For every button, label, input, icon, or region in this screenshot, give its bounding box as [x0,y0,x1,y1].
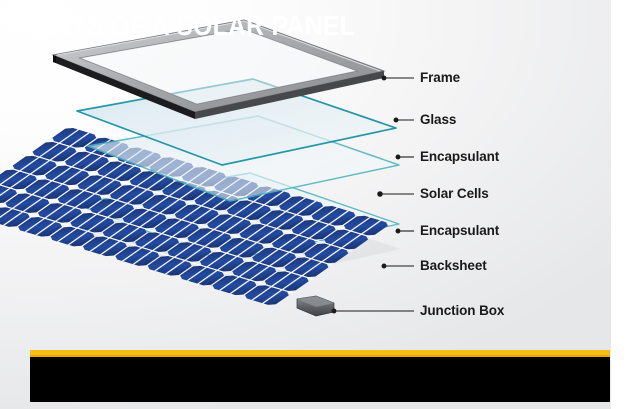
label-glass: Glass [420,113,456,127]
leader-glass [394,118,414,122]
exploded-panel-diagram [0,0,640,345]
figure-canvas: Frame Glass Encapsulant Solar Cells Enca… [0,0,640,409]
leader-backsheet [382,264,414,268]
leader-frame [382,76,414,80]
label-backsheet: Backsheet [420,259,487,273]
label-encapsulant-top: Encapsulant [420,150,499,164]
title-banner [30,350,610,402]
leader-encapsulant-top [396,155,414,159]
label-frame: Frame [420,71,460,85]
label-encapsulant-bottom: Encapsulant [420,224,499,238]
banner-accent-line [30,355,610,357]
leader-junction-box [332,309,414,313]
label-solar-cells: Solar Cells [420,187,489,201]
layer-junction-box [297,296,334,316]
label-junction-box: Junction Box [420,304,504,318]
figure-title: PARTS OF A SOLAR PANEL [20,11,355,41]
leader-encapsulant-bottom [396,229,414,233]
leader-solar-cells [378,192,414,196]
